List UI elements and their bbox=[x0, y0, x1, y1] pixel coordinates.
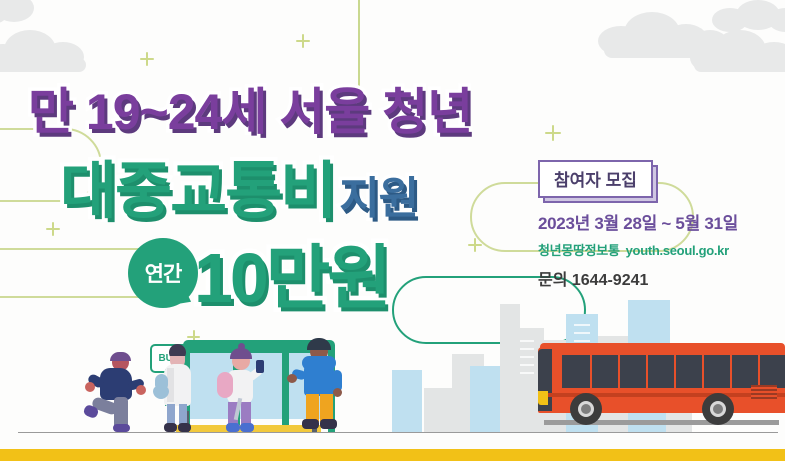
headline-line-1: 만 19~24세 서울 청년 bbox=[28, 72, 472, 144]
headline-transit-text: 대중교통비 bbox=[60, 140, 335, 230]
headline-support-text: 지원 bbox=[339, 162, 418, 226]
bus-window-divider bbox=[590, 355, 592, 388]
bus-window-divider bbox=[618, 355, 620, 388]
bus-window-divider bbox=[702, 355, 704, 388]
bus-headlight bbox=[538, 391, 548, 405]
info-panel: 참여자 모집 2023년 3월 28일 ~ 5월 31일 청년몽땅정보통yout… bbox=[538, 160, 778, 290]
bus-rear-grill bbox=[751, 385, 777, 399]
bus-window-divider bbox=[646, 355, 648, 388]
website-url[interactable]: youth.seoul.go.kr bbox=[626, 243, 729, 258]
promo-banner: 만 19~24세 서울 청년 대중교통비 지원 연간 10만원 참여자 모집 2… bbox=[0, 0, 785, 461]
bus-wheel bbox=[570, 393, 602, 425]
bus-window-divider bbox=[758, 355, 760, 388]
ground-line bbox=[18, 432, 778, 434]
shelter-post bbox=[282, 353, 289, 432]
cloud-top-right-far bbox=[712, 0, 785, 30]
headline-line-2: 대중교통비 지원 bbox=[60, 140, 418, 230]
headline-age-text: 만 19~24세 서울 청년 bbox=[28, 84, 472, 140]
building-silhouette bbox=[392, 370, 422, 432]
recruit-badge-label: 참여자 모집 bbox=[538, 160, 653, 198]
person-standing-whitecoat bbox=[161, 344, 195, 432]
bus-wheel-hub-inner bbox=[713, 404, 723, 414]
building-silhouette bbox=[500, 304, 520, 432]
website-line: 청년몽땅정보통youth.seoul.go.kr bbox=[538, 240, 778, 259]
website-name: 청년몽땅정보통 bbox=[538, 243, 620, 258]
application-period: 2023년 3월 28일 ~ 5월 31일 bbox=[538, 209, 778, 234]
bus-window-divider bbox=[674, 355, 676, 388]
illustration-scene: BUS bbox=[0, 286, 785, 461]
bus-wheel bbox=[702, 393, 734, 425]
bus-window-divider bbox=[730, 355, 732, 388]
headline-block: 만 19~24세 서울 청년 대중교통비 지원 연간 10만원 bbox=[0, 0, 530, 310]
cloud-right-mid bbox=[690, 28, 785, 72]
person-runner bbox=[84, 354, 146, 432]
city-bus bbox=[538, 337, 785, 423]
bus-wheel-hub-inner bbox=[581, 404, 591, 414]
person-blue-hoodie bbox=[296, 340, 344, 432]
recruit-badge: 참여자 모집 bbox=[538, 160, 653, 198]
person-with-backpack bbox=[218, 348, 264, 432]
sparkle-icon bbox=[545, 125, 561, 141]
bottom-accent-bar bbox=[0, 449, 785, 461]
